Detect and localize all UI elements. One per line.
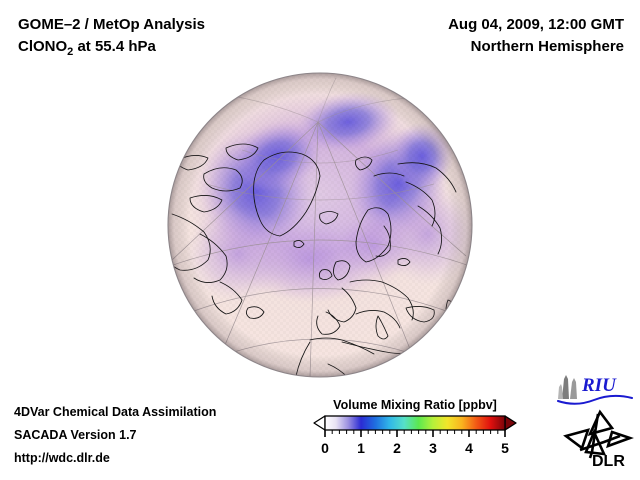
riu-wave-icon bbox=[558, 396, 632, 404]
datetime-label: Aug 04, 2009, 12:00 GMT bbox=[448, 14, 624, 36]
colorbar-title: Volume Mixing Ratio [ppbv] bbox=[300, 398, 530, 412]
dlr-wordmark: DLR bbox=[592, 453, 625, 470]
species-level-label: ClONO2 at 55.4 hPa bbox=[18, 36, 205, 63]
colorbar-tick-label: 5 bbox=[501, 440, 509, 456]
colorbar-tick-label: 4 bbox=[465, 440, 473, 456]
colorbar-svg: 012345 bbox=[300, 414, 530, 470]
globe-limb-shading bbox=[168, 73, 472, 377]
colorbar-gradient bbox=[325, 416, 505, 430]
colorbar-extend-low bbox=[314, 416, 325, 430]
globe-map bbox=[160, 64, 480, 386]
header-right: Aug 04, 2009, 12:00 GMT Northern Hemisph… bbox=[448, 14, 624, 58]
riu-wordmark: RIU bbox=[581, 375, 617, 396]
globe-svg bbox=[160, 64, 480, 386]
globe-data-field bbox=[162, 73, 476, 386]
species-name: ClONO bbox=[18, 38, 67, 55]
dlr-pinwheel-icon bbox=[566, 412, 630, 458]
header-left: GOME–2 / MetOp Analysis ClONO2 at 55.4 h… bbox=[18, 14, 205, 63]
colorbar-extend-high bbox=[505, 416, 516, 430]
footer-line-method: 4DVar Chemical Data Assimilation bbox=[14, 401, 216, 424]
footer-line-version: SACADA Version 1.7 bbox=[14, 424, 216, 447]
colorbar-ticks: 012345 bbox=[321, 430, 509, 456]
footer-line-url[interactable]: http://wdc.dlr.de bbox=[14, 447, 216, 470]
riu-logo: RIU bbox=[556, 371, 634, 405]
hemisphere-label: Northern Hemisphere bbox=[448, 36, 624, 58]
pressure-level: at 55.4 hPa bbox=[73, 38, 156, 55]
riu-tower-icon bbox=[558, 375, 577, 399]
colorbar-tick-label: 0 bbox=[321, 440, 329, 456]
analysis-title: GOME–2 / MetOp Analysis bbox=[18, 14, 205, 36]
figure-canvas: GOME–2 / MetOp Analysis ClONO2 at 55.4 h… bbox=[0, 0, 640, 480]
dlr-logo: DLR bbox=[560, 408, 636, 470]
colorbar-tick-label: 2 bbox=[393, 440, 401, 456]
footer-text-block: 4DVar Chemical Data Assimilation SACADA … bbox=[14, 401, 216, 470]
colorbar: Volume Mixing Ratio [ppbv] 012345 bbox=[300, 398, 530, 470]
colorbar-tick-label: 3 bbox=[429, 440, 437, 456]
colorbar-tick-label: 1 bbox=[357, 440, 365, 456]
